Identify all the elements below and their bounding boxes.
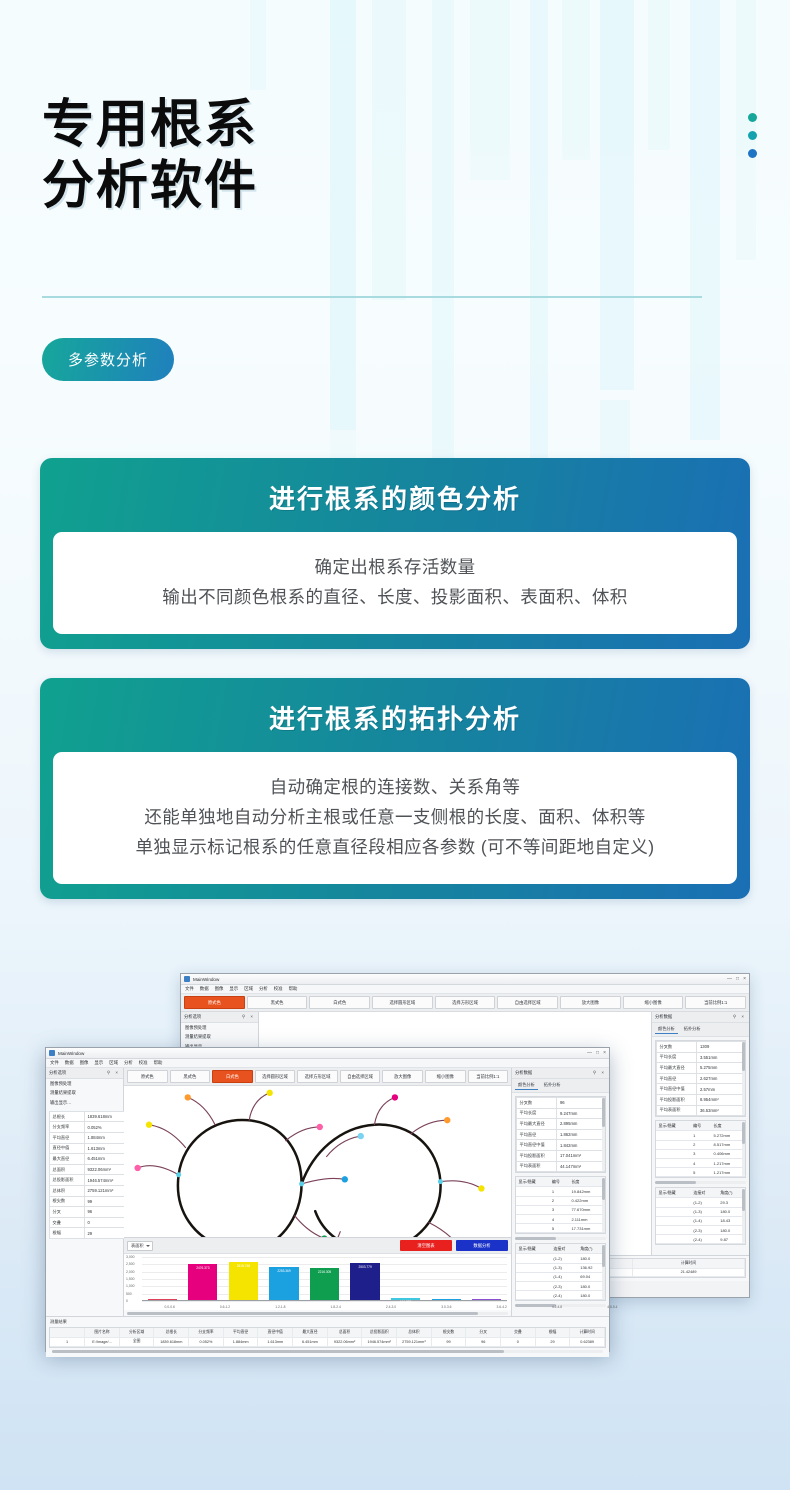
table-cell: 99 xyxy=(431,1337,466,1347)
table-cell: 9.87 xyxy=(718,1235,745,1244)
menu-item-3[interactable]: 显示 xyxy=(94,1060,103,1066)
menu-item-2[interactable]: 图像 xyxy=(80,1060,89,1066)
table-row[interactable]: 51.217mm xyxy=(656,1168,745,1177)
toolbar-tab-7[interactable]: 缩小图像 xyxy=(425,1070,466,1083)
menubar-front[interactable]: 文件数据图像显示区域分析校准帮助 xyxy=(46,1059,609,1068)
table-cell: (1-4) xyxy=(691,1216,718,1225)
param-row: 平均投影面积8.954mm² xyxy=(657,1094,745,1105)
feature-line: 还能单独地自动分析主根或任意一支侧根的长度、面积、体积等 xyxy=(67,802,723,832)
column-header[interactable]: 总根长 xyxy=(154,1328,189,1337)
minimize-icon[interactable]: — xyxy=(587,1050,592,1056)
menu-item-0[interactable]: 文件 xyxy=(50,1060,59,1066)
bar-column[interactable]: 2615.748 xyxy=(223,1257,264,1300)
param-key: 平均直径 xyxy=(657,1073,697,1084)
bottom-results-front: 测量结果 图片名称分析区域总根长分支频率平均直径直径中值最大直径总面积总投影面积… xyxy=(46,1316,609,1357)
table-cell xyxy=(656,1140,691,1149)
toolbar-tab-2[interactable]: 白式色 xyxy=(212,1070,253,1083)
param-row: 平均表面积36.53mm² xyxy=(657,1105,745,1116)
param-row: 分支频率0.052% xyxy=(50,1122,126,1133)
scrollbar-vertical[interactable] xyxy=(742,1122,745,1176)
scrollbar-vertical[interactable] xyxy=(602,1245,605,1299)
right-tab-1[interactable]: 拓扑分析 xyxy=(541,1081,564,1090)
param-row: 直径中值1.613mm xyxy=(50,1143,126,1154)
bar[interactable] xyxy=(472,1299,501,1301)
table-cell: (2-4) xyxy=(691,1235,718,1244)
maximize-icon[interactable]: □ xyxy=(736,976,739,982)
chart-scrollbar-horizontal[interactable] xyxy=(127,1312,508,1315)
table-cell: 1839.618mm xyxy=(154,1337,189,1347)
table-row[interactable]: 42.111mm xyxy=(516,1214,605,1223)
scrollbar-vertical[interactable] xyxy=(742,1042,745,1115)
x-axis-tick: 0.6-1.2 xyxy=(220,1305,230,1309)
column-header[interactable]: 平均直径 xyxy=(223,1328,258,1337)
param-key: 平均直径中值 xyxy=(517,1140,557,1151)
toolbar-tab-7[interactable]: 缩小图像 xyxy=(623,996,684,1009)
param-value: 29 xyxy=(84,1228,125,1239)
column-header[interactable]: 编号 xyxy=(549,1177,569,1187)
menu-item-5[interactable]: 分析 xyxy=(259,986,268,992)
summary-table: 分叉数96平均长度9.247mm平均最大直径2.895mm平均直径1.862mm… xyxy=(516,1097,605,1172)
scrollbar-horizontal[interactable] xyxy=(515,1237,606,1240)
right-tab-1[interactable]: 拓扑分析 xyxy=(681,1025,704,1034)
minimize-icon[interactable]: — xyxy=(727,976,732,982)
param-key: 平均直径 xyxy=(517,1129,557,1140)
bar[interactable]: 2503.779 xyxy=(350,1263,379,1300)
table-cell: E:/Image/... xyxy=(85,1337,120,1347)
column-header[interactable]: 显示/隐藏 xyxy=(516,1177,549,1187)
param-key: 平均投影面积 xyxy=(657,1094,697,1105)
column-header[interactable]: 连接对 xyxy=(691,1188,718,1198)
left-panel-title: 分析选项 xyxy=(49,1070,66,1076)
close-icon[interactable]: × xyxy=(603,1050,606,1056)
param-value: 96 xyxy=(557,1098,605,1109)
param-key: 平均表面积 xyxy=(657,1105,697,1116)
menu-item-1[interactable]: 数据 xyxy=(65,1060,74,1066)
table-cell xyxy=(656,1226,691,1235)
table-row[interactable]: (2-3)180.0 xyxy=(656,1226,745,1235)
param-value: 1.884mm xyxy=(84,1132,125,1143)
table-row[interactable]: (1-4)18.43 xyxy=(656,1216,745,1225)
table-cell: 19.842mm xyxy=(569,1187,605,1196)
menu-item-0[interactable]: 文件 xyxy=(185,986,194,992)
param-value: 1.842mm xyxy=(557,1140,605,1151)
right-panel-back[interactable]: 分析数据 ⚲ × 颜色分析拓扑分析 分叉数1309平均长度3.551mm平均最大… xyxy=(651,1012,749,1255)
param-value: 1.862mm xyxy=(557,1129,605,1140)
y-axis-tick: 2,500 xyxy=(126,1262,135,1266)
bar-column[interactable]: 2216.305 xyxy=(304,1257,345,1300)
table-row[interactable]: 41.217mm xyxy=(656,1158,745,1167)
table-row[interactable]: 377.670mm xyxy=(516,1205,605,1214)
column-header[interactable]: 根尖数 xyxy=(431,1328,466,1337)
hero-title: 专用根系 分析软件 xyxy=(42,95,258,218)
column-header[interactable]: 显示/隐藏 xyxy=(656,1121,691,1131)
angle-table-back: 显示/隐藏连接对角度(°)(1-2)29.3(1-3)180.0(1-4)18.… xyxy=(656,1188,745,1244)
table-cell: 0.406mm xyxy=(711,1149,745,1158)
column-header[interactable]: 最大直径 xyxy=(293,1328,328,1337)
scrollbar-vertical[interactable] xyxy=(602,1178,605,1232)
bar-column[interactable] xyxy=(142,1257,183,1300)
table-cell: 1946.574mm² xyxy=(362,1337,397,1347)
param-row: 平均长度9.247mm xyxy=(517,1108,605,1119)
bar-value-label: 141.953 xyxy=(400,1298,412,1304)
table-cell: 2759.121mm³ xyxy=(397,1337,432,1347)
toolbar-tab-4[interactable]: 选择方形区域 xyxy=(297,1070,338,1083)
app-icon xyxy=(184,976,190,982)
toolbar-tabs-front[interactable]: 原式色黑式色白式色选择圆形区域选择方形区域自由选择区域放大图像缩小图像当前比例1… xyxy=(124,1068,511,1086)
param-row: 总根长1839.618mm xyxy=(50,1111,126,1122)
param-row: 平均直径中值1.842mm xyxy=(517,1140,605,1151)
menu-item-4[interactable]: 区域 xyxy=(244,986,253,992)
param-row: 最大直径6.451mm xyxy=(50,1154,126,1165)
param-key: 交叠 xyxy=(50,1217,85,1228)
bar-column[interactable]: 141.953 xyxy=(385,1257,426,1300)
table-cell: 3 xyxy=(549,1205,569,1214)
tree-item-1[interactable]: 测量结果提取 xyxy=(181,1033,258,1043)
param-key: 平均投影面积 xyxy=(517,1150,557,1161)
right-tab-0[interactable]: 颜色分析 xyxy=(515,1081,538,1090)
table-row[interactable]: (2-4)180.0 xyxy=(516,1291,605,1300)
column-header[interactable]: 分支频率 xyxy=(189,1328,224,1337)
window-title: MainWindow xyxy=(193,977,219,982)
table-cell xyxy=(656,1207,691,1216)
table-cell: 17.731mm xyxy=(569,1224,605,1233)
x-axis-tick: 0.0-0.6 xyxy=(165,1305,175,1309)
bar-column[interactable] xyxy=(426,1257,467,1300)
column-header[interactable]: 计算时间 xyxy=(633,1259,745,1268)
table-row[interactable]: 1E:/Image/...全图1839.618mm0.052%1.884mm1.… xyxy=(50,1337,605,1347)
toolbar-tab-3[interactable]: 选择圆形区域 xyxy=(255,1070,296,1083)
param-row: 平均直径2.627mm xyxy=(657,1073,745,1084)
dot-3 xyxy=(748,149,757,158)
table-cell xyxy=(516,1224,549,1233)
table-cell: 1.217mm xyxy=(711,1168,745,1177)
table-row[interactable]: (1-2)29.3 xyxy=(656,1198,745,1207)
toolbar-tab-6[interactable]: 放大图像 xyxy=(560,996,621,1009)
menu-item-7[interactable]: 帮助 xyxy=(154,1060,163,1066)
maximize-icon[interactable]: □ xyxy=(596,1050,599,1056)
table-row[interactable]: 517.731mm xyxy=(516,1224,605,1233)
pin-icon[interactable]: ⚲ × xyxy=(733,1014,746,1020)
hero-line-1: 专用根系 xyxy=(42,95,258,155)
results-table: 图片名称分析区域总根长分支频率平均直径直径中值最大直径总面积总投影面积总体积根尖… xyxy=(50,1328,605,1347)
left-panel-header: 分析选项 ⚲ × xyxy=(46,1068,123,1079)
summary-box: 分叉数96平均长度9.247mm平均最大直径2.895mm平均直径1.862mm… xyxy=(515,1096,606,1173)
y-axis-tick: 0 xyxy=(126,1299,128,1303)
param-key: 平均直径中值 xyxy=(657,1084,697,1095)
table-cell: 5.272mm xyxy=(711,1131,745,1140)
table-cell: 4 xyxy=(691,1158,711,1167)
table-cell: 4 xyxy=(549,1214,569,1223)
table-cell: (2-3) xyxy=(551,1282,578,1291)
toolbar-tab-0[interactable]: 原式色 xyxy=(127,1070,168,1083)
length-table: 显示/隐藏编号长度119.842mm20.422mm377.670mm42.11… xyxy=(516,1177,605,1233)
pin-icon[interactable]: ⚲ × xyxy=(593,1070,606,1076)
feature-card-body: 自动确定根的连接数、关系角等 还能单独地自动分析主根或任意一支侧根的长度、面积、… xyxy=(53,752,737,884)
param-value: 1309 xyxy=(697,1042,745,1053)
right-panel-tabs-back[interactable]: 颜色分析拓扑分析 xyxy=(652,1023,749,1037)
param-key: 总体积 xyxy=(50,1185,85,1196)
toolbar-tab-5[interactable]: 自由选择区域 xyxy=(497,996,558,1009)
table-cell: (1-3) xyxy=(691,1207,718,1216)
bar-column[interactable]: 2476.373 xyxy=(183,1257,224,1300)
window-controls[interactable]: — □ × xyxy=(587,1050,606,1056)
column-header[interactable]: 角度(°) xyxy=(578,1244,605,1254)
pin-icon[interactable]: ⚲ × xyxy=(242,1014,255,1020)
param-row: 分叉数96 xyxy=(517,1098,605,1109)
param-key: 分支频率 xyxy=(50,1122,85,1133)
right-panel-tabs[interactable]: 颜色分析拓扑分析 xyxy=(512,1079,609,1093)
angle-box: 显示/隐藏连接对角度(°)(1-2)180.0(1-3)136.92(1-4)6… xyxy=(515,1243,606,1301)
hero-line-2: 分析软件 xyxy=(42,156,258,216)
app-icon xyxy=(49,1050,55,1056)
param-key: 分叉数 xyxy=(657,1042,697,1053)
angle-box-back: 显示/隐藏连接对角度(°)(1-2)29.3(1-3)180.0(1-4)18.… xyxy=(655,1187,746,1245)
table-row[interactable]: 28.517mm xyxy=(656,1140,745,1149)
table-cell: 0.052% xyxy=(189,1337,224,1347)
table-row[interactable]: (1-3)136.92 xyxy=(516,1263,605,1272)
app-window-front[interactable]: MainWindow — □ × 文件数据图像显示区域分析校准帮助 分析选项 ⚲… xyxy=(45,1047,610,1352)
feature-line: 自动确定根的连接数、关系角等 xyxy=(67,772,723,802)
param-key: 总投影面积 xyxy=(50,1175,85,1186)
feature-line: 单独显示标记根系的任意直径段相应各参数 (可不等间距地自定义) xyxy=(67,832,723,862)
param-row: 平均直径1.862mm xyxy=(517,1129,605,1140)
toolbar-tab-1[interactable]: 黑式色 xyxy=(170,1070,211,1083)
param-key: 平均长度 xyxy=(657,1052,697,1063)
toolbar-tab-6[interactable]: 放大图像 xyxy=(382,1070,423,1083)
y-axis-tick: 1,500 xyxy=(126,1277,135,1281)
x-axis-tick: 3.6-4.2 xyxy=(497,1305,507,1309)
param-row: 根尖数99 xyxy=(50,1196,126,1207)
table-row[interactable]: 20.422mm xyxy=(516,1196,605,1205)
table-row[interactable]: 30.406mm xyxy=(656,1149,745,1158)
tree-item-0[interactable]: 图像预处理 xyxy=(181,1023,258,1033)
table-cell: 1.884mm xyxy=(223,1337,258,1347)
column-header[interactable]: 连接对 xyxy=(551,1244,578,1254)
table-row[interactable]: (2-4)9.87 xyxy=(656,1235,745,1244)
table-cell xyxy=(516,1187,549,1196)
param-row: 平均直径1.884mm xyxy=(50,1132,126,1143)
toolbar-tab-3[interactable]: 选择圆形区域 xyxy=(372,996,433,1009)
param-key: 平均最大直径 xyxy=(517,1119,557,1130)
table-cell: 21.42489 xyxy=(633,1268,745,1277)
bar-column[interactable]: 2253.369 xyxy=(264,1257,305,1300)
left-panel-title: 分析选项 xyxy=(184,1014,201,1020)
table-cell xyxy=(516,1291,551,1300)
results-title: 测量结果 xyxy=(49,1319,606,1327)
column-header[interactable]: 总面积 xyxy=(327,1328,362,1337)
column-header[interactable]: 分叉 xyxy=(466,1328,501,1337)
table-cell xyxy=(516,1263,551,1272)
param-key: 最大直径 xyxy=(50,1154,85,1165)
table-cell: 180.0 xyxy=(718,1226,745,1235)
bar[interactable]: 2253.369 xyxy=(269,1267,298,1300)
toolbar-tab-2[interactable]: 白式色 xyxy=(309,996,370,1009)
param-row: 总面积9322.06mm² xyxy=(50,1164,126,1175)
chart-toolbar[interactable]: 表面积 清空图表 数据分析 xyxy=(124,1238,511,1254)
table-cell xyxy=(656,1168,691,1177)
bar-value-label: 2253.369 xyxy=(277,1267,290,1273)
table-cell: (1-2) xyxy=(551,1254,578,1263)
bar[interactable] xyxy=(148,1299,177,1301)
table-cell: 0.422mm xyxy=(569,1196,605,1205)
table-cell: 136.92 xyxy=(578,1263,605,1272)
menubar-back[interactable]: 文件数据图像显示区域分析校准帮助 xyxy=(181,985,749,994)
right-panel-header: 分析数据 ⚲ × xyxy=(652,1012,749,1023)
param-value: 3.551mm xyxy=(697,1052,745,1063)
tree-item-2[interactable]: 输出显示… xyxy=(46,1098,123,1108)
metric-select[interactable]: 表面积 xyxy=(127,1241,153,1251)
length-box: 显示/隐藏编号长度119.842mm20.422mm377.670mm42.11… xyxy=(515,1176,606,1234)
param-value: 9.247mm xyxy=(557,1108,605,1119)
left-panel-header: 分析选项 ⚲ × xyxy=(181,1012,258,1023)
table-cell xyxy=(516,1272,551,1281)
bar[interactable]: 2615.748 xyxy=(229,1262,258,1300)
x-axis xyxy=(142,1300,507,1301)
toolbar-tab-5[interactable]: 自由选择区域 xyxy=(340,1070,381,1083)
pin-icon[interactable]: ⚲ × xyxy=(107,1070,120,1076)
table-cell: 96 xyxy=(466,1337,501,1347)
menu-item-5[interactable]: 分析 xyxy=(124,1060,133,1066)
bar-column[interactable] xyxy=(467,1257,508,1300)
column-header[interactable]: 总投影面积 xyxy=(362,1328,397,1337)
menu-item-3[interactable]: 显示 xyxy=(229,986,238,992)
chart-bars: 2476.3732615.7482253.3692216.3052503.779… xyxy=(142,1257,507,1300)
scrollbar-vertical[interactable] xyxy=(742,1189,745,1243)
close-icon[interactable]: × xyxy=(743,976,746,982)
table-cell: 9322.06mm² xyxy=(327,1337,362,1347)
feature-line: 确定出根系存活数量 xyxy=(67,552,723,582)
menu-item-6[interactable]: 校准 xyxy=(274,986,283,992)
param-value: 1946.574mm² xyxy=(84,1175,125,1186)
column-header[interactable]: 编号 xyxy=(691,1121,711,1131)
toolbar-tab-1[interactable]: 黑式色 xyxy=(247,996,308,1009)
right-panel-front[interactable]: 分析数据 ⚲ × 颜色分析拓扑分析 分叉数96平均长度9.247mm平均最大直径… xyxy=(511,1068,609,1316)
table-cell xyxy=(656,1131,691,1140)
table-cell: 0 xyxy=(501,1337,536,1347)
data-analysis-button[interactable]: 数据分析 xyxy=(456,1240,508,1251)
table-row[interactable]: (1-4)69.04 xyxy=(516,1272,605,1281)
table-cell xyxy=(656,1149,691,1158)
param-key: 直径中值 xyxy=(50,1143,85,1154)
param-row: 总投影面积1946.574mm² xyxy=(50,1175,126,1186)
bar[interactable]: 2216.305 xyxy=(310,1268,339,1301)
param-row: 平均最大直径2.895mm xyxy=(517,1119,605,1130)
column-header[interactable] xyxy=(50,1328,85,1337)
table-cell: 1 xyxy=(549,1187,569,1196)
scrollbar-horizontal[interactable] xyxy=(655,1181,746,1184)
left-panel-front[interactable]: 分析选项 ⚲ × 图像预处理测量结果提取输出显示… 总根长1839.618mm分… xyxy=(46,1068,124,1316)
param-value: 0 xyxy=(84,1217,125,1228)
bar[interactable]: 141.953 xyxy=(391,1298,420,1300)
param-value: 2.627mm xyxy=(697,1073,745,1084)
scrollbar-vertical[interactable] xyxy=(602,1098,605,1171)
x-axis-tick: 4.8-5.4 xyxy=(607,1305,617,1309)
table-cell: 29.3 xyxy=(718,1198,745,1207)
feature-card-title: 进行根系的颜色分析 xyxy=(53,472,737,532)
column-header[interactable]: 角度(°) xyxy=(718,1188,745,1198)
table-cell: 180.0 xyxy=(718,1207,745,1216)
column-header[interactable]: 分析区域 xyxy=(119,1328,154,1337)
menu-item-7[interactable]: 帮助 xyxy=(289,986,298,992)
param-value: 96 xyxy=(84,1207,125,1218)
clear-chart-button[interactable]: 清空图表 xyxy=(400,1240,452,1251)
toolbar-tab-8[interactable]: 当前比例1:1 xyxy=(468,1070,509,1083)
dot-2 xyxy=(748,131,757,140)
diameter-distribution-chart: 3,0002,5002,0001,5001,00050002476.373261… xyxy=(124,1254,511,1310)
column-header[interactable]: 总体积 xyxy=(397,1328,432,1337)
window-controls[interactable]: — □ × xyxy=(727,976,746,982)
column-header[interactable]: 长度 xyxy=(569,1177,605,1187)
results-scrollbar-horizontal[interactable] xyxy=(52,1350,603,1353)
table-row[interactable]: (1-3)180.0 xyxy=(656,1207,745,1216)
toolbar-tab-4[interactable]: 选择方形区域 xyxy=(435,996,496,1009)
column-header[interactable]: 计算时间 xyxy=(570,1328,605,1337)
param-row: 平均投影面积17.041mm² xyxy=(517,1150,605,1161)
right-tab-0[interactable]: 颜色分析 xyxy=(655,1025,678,1034)
bar-column[interactable]: 2503.779 xyxy=(345,1257,386,1300)
column-header[interactable]: 显示/隐藏 xyxy=(516,1244,551,1254)
tree-item-0[interactable]: 图像预处理 xyxy=(46,1079,123,1089)
bar[interactable] xyxy=(432,1299,461,1301)
toolbar-tab-0[interactable]: 原式色 xyxy=(184,996,245,1009)
menu-item-6[interactable]: 校准 xyxy=(139,1060,148,1066)
image-canvas-front[interactable] xyxy=(124,1086,511,1237)
decorative-dots xyxy=(748,113,757,167)
param-key: 平均长度 xyxy=(517,1108,557,1119)
param-row: 平均表面积44.147mm² xyxy=(517,1161,605,1172)
menu-item-1[interactable]: 数据 xyxy=(200,986,209,992)
param-value: 0.052% xyxy=(84,1122,125,1133)
toolbar-tabs-back[interactable]: 原式色黑式色白式色选择圆形区域选择方形区域自由选择区域放大图像缩小图像当前比例1… xyxy=(181,994,749,1012)
titlebar-back[interactable]: MainWindow — □ × xyxy=(181,974,749,985)
column-header[interactable]: 长度 xyxy=(711,1121,745,1131)
bar[interactable]: 2476.373 xyxy=(188,1264,217,1300)
right-panel-header: 分析数据 ⚲ × xyxy=(512,1068,609,1079)
menu-item-4[interactable]: 区域 xyxy=(109,1060,118,1066)
table-row[interactable]: (1-2)180.0 xyxy=(516,1254,605,1263)
column-header[interactable]: 直径中值 xyxy=(258,1328,293,1337)
bar-value-label: 2476.373 xyxy=(196,1264,209,1270)
window-title: MainWindow xyxy=(58,1051,84,1056)
table-row[interactable]: 119.842mm xyxy=(516,1187,605,1196)
titlebar-front[interactable]: MainWindow — □ × xyxy=(46,1048,609,1059)
root-image-front xyxy=(124,1086,511,1237)
y-axis-tick: 500 xyxy=(126,1292,132,1296)
param-key: 分叉数 xyxy=(517,1098,557,1109)
table-cell xyxy=(516,1282,551,1291)
param-row: 总体积2759.121mm³ xyxy=(50,1185,126,1196)
tree-item-1[interactable]: 测量结果提取 xyxy=(46,1089,123,1099)
param-value: 6.451mm xyxy=(84,1154,125,1165)
left-panel-tree[interactable]: 图像预处理测量结果提取输出显示… xyxy=(46,1079,123,1108)
param-row: 平均最大直径5.275mm xyxy=(657,1063,745,1074)
column-header[interactable]: 图片名称 xyxy=(85,1328,120,1337)
grid-line-h xyxy=(142,1301,507,1302)
x-axis-tick: 1.8-2.4 xyxy=(331,1305,341,1309)
column-header[interactable]: 交叠 xyxy=(501,1328,536,1337)
column-header[interactable]: 显示/隐藏 xyxy=(656,1188,691,1198)
table-cell xyxy=(516,1254,551,1263)
toolbar-tab-8[interactable]: 当前比例1:1 xyxy=(685,996,746,1009)
table-row[interactable]: (2-3)180.0 xyxy=(516,1282,605,1291)
table-cell xyxy=(516,1205,549,1214)
param-value: 17.041mm² xyxy=(557,1150,605,1161)
menu-item-2[interactable]: 图像 xyxy=(215,986,224,992)
table-row[interactable]: 15.272mm xyxy=(656,1131,745,1140)
table-cell: 全图 xyxy=(119,1337,154,1347)
column-header[interactable]: 根幅 xyxy=(535,1328,570,1337)
y-axis-tick: 3,000 xyxy=(126,1255,135,1259)
